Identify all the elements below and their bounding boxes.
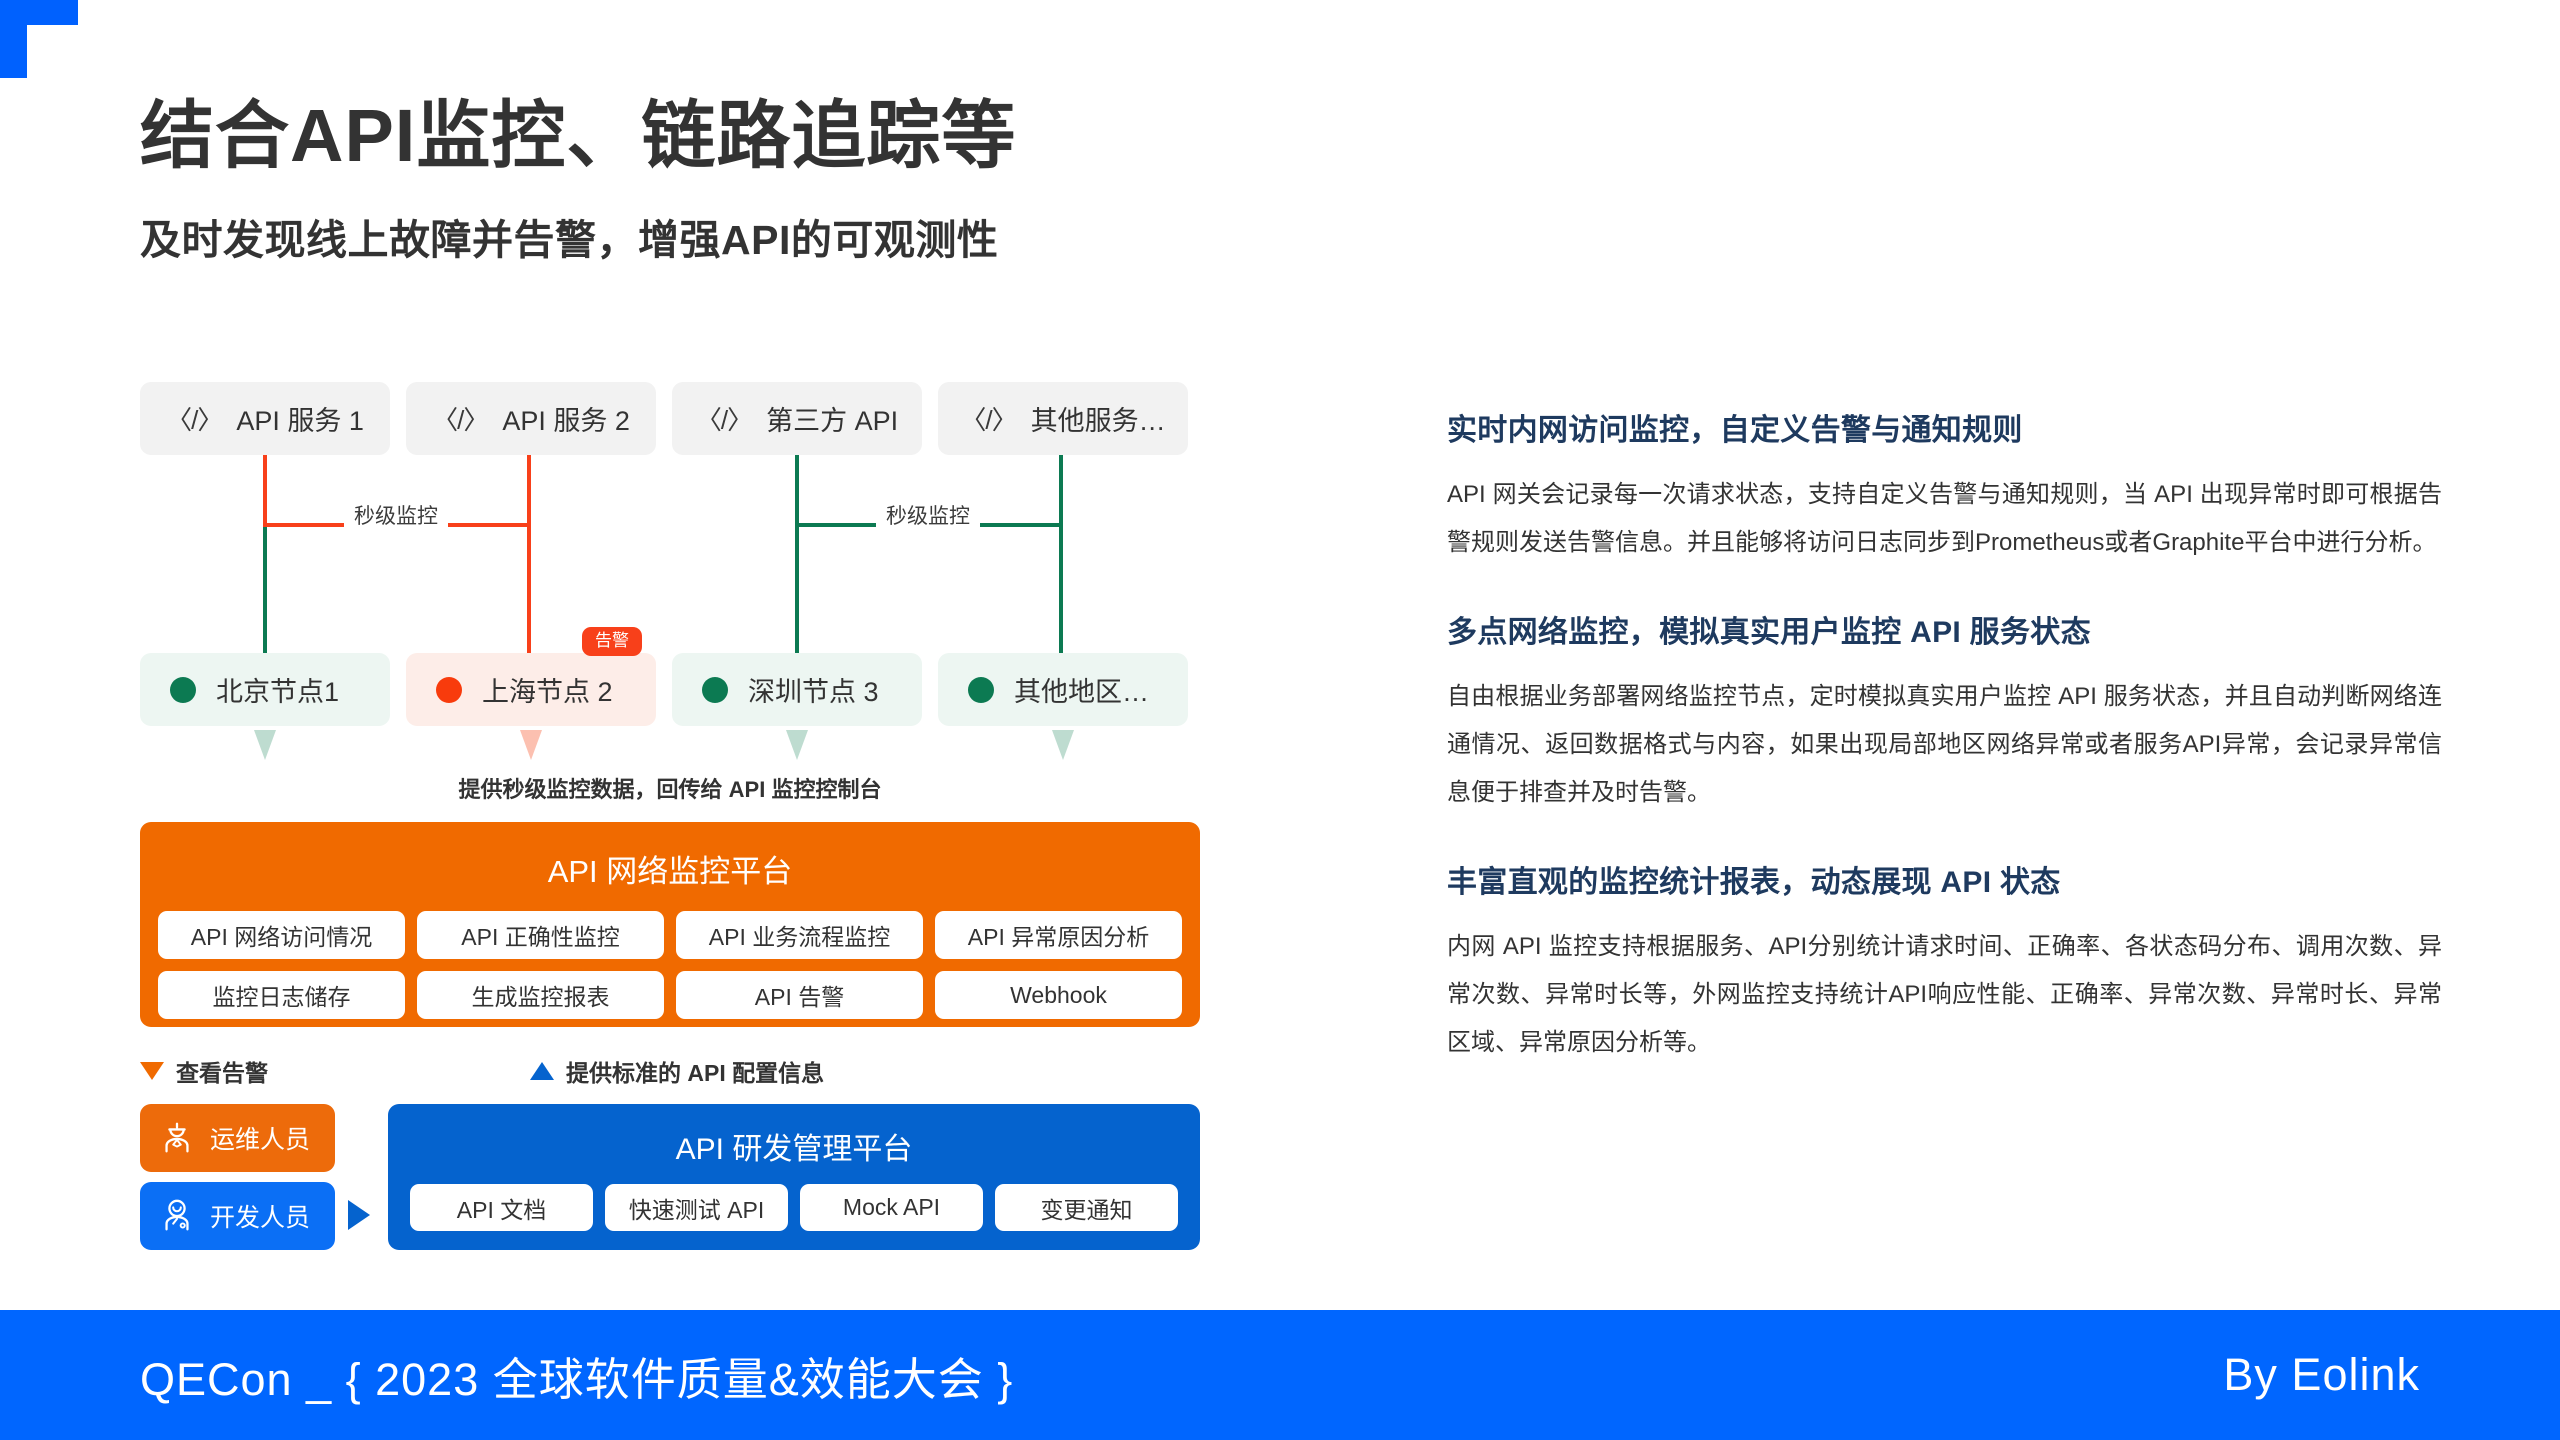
corner-bracket-mark bbox=[0, 0, 78, 78]
status-dot-icon bbox=[702, 677, 728, 703]
connector-line-green-right bbox=[1059, 455, 1063, 653]
dev-platform-chip-row: API 文档 快速测试 API Mock API 变更通知 bbox=[410, 1184, 1178, 1231]
monitor-platform-title: API 网络监控平台 bbox=[158, 846, 1182, 891]
connector-label-right: 秒级监控 bbox=[876, 500, 980, 530]
title-block: 结合API监控、链路追踪等 及时发现线上故障并告警，增强API的可观测性 bbox=[140, 95, 1340, 266]
monitor-chip[interactable]: 监控日志储存 bbox=[158, 971, 405, 1019]
page-title: 结合API监控、链路追踪等 bbox=[140, 95, 1340, 178]
service-box-4[interactable]: 〈/〉 其他服务… bbox=[938, 382, 1188, 455]
monitor-chip[interactable]: API 异常原因分析 bbox=[935, 911, 1182, 959]
connector-label-left: 秒级监控 bbox=[344, 500, 448, 530]
corner-bracket-vertical-arm bbox=[0, 0, 27, 78]
api-network-monitor-platform: API 网络监控平台 API 网络访问情况 API 正确性监控 API 业务流程… bbox=[140, 822, 1200, 1027]
flow-arrow-down-icon bbox=[1052, 730, 1074, 760]
service-box-1[interactable]: 〈/〉 API 服务 1 bbox=[140, 382, 390, 455]
flow-arrow-right-icon bbox=[348, 1200, 370, 1230]
service-box-2[interactable]: 〈/〉 API 服务 2 bbox=[406, 382, 656, 455]
section-heading: 丰富直观的监控统计报表，动态展现 API 状态 bbox=[1447, 857, 2442, 901]
monitor-platform-row-1: API 网络访问情况 API 正确性监控 API 业务流程监控 API 异常原因… bbox=[158, 911, 1182, 959]
node-box-shanghai[interactable]: 上海节点 2 告警 bbox=[406, 653, 656, 726]
legend-view-alerts: 查看告警 bbox=[140, 1054, 268, 1088]
monitor-chip[interactable]: API 业务流程监控 bbox=[676, 911, 923, 959]
dev-chip[interactable]: 变更通知 bbox=[995, 1184, 1178, 1231]
role-card-dev[interactable]: 开发人员 bbox=[140, 1182, 335, 1250]
connector-line-green-left-bottom bbox=[263, 525, 267, 653]
node-label: 深圳节点 3 bbox=[748, 670, 879, 709]
node-label: 上海节点 2 bbox=[482, 670, 613, 709]
section-heading: 实时内网访问监控，自定义告警与通知规则 bbox=[1447, 405, 2442, 449]
service-row: 〈/〉 API 服务 1 〈/〉 API 服务 2 〈/〉 第三方 API 〈/… bbox=[140, 382, 1200, 455]
code-brackets-icon: 〈/〉 bbox=[696, 400, 752, 437]
content-section-1: 实时内网访问监控，自定义告警与通知规则 API 网关会记录每一次请求状态，支持自… bbox=[1447, 405, 2442, 567]
flow-arrow-down-icon bbox=[520, 730, 542, 760]
content-section-2: 多点网络监控，模拟真实用户监控 API 服务状态 自由根据业务部署网络监控节点，… bbox=[1447, 607, 2442, 817]
flow-arrow-down-icon bbox=[786, 730, 808, 760]
dev-chip[interactable]: API 文档 bbox=[410, 1184, 593, 1231]
roles-and-dev-platform: 运维人员 开发人员 API 研发管理平台 API 文档 快速测试 API Moc… bbox=[140, 1104, 1200, 1254]
feedback-note: 提供秒级监控数据，回传给 API 监控控制台 bbox=[140, 772, 1200, 804]
legend-label: 提供标准的 API 配置信息 bbox=[566, 1054, 824, 1088]
legend-label: 查看告警 bbox=[176, 1054, 268, 1088]
section-body: 自由根据业务部署网络监控节点，定时模拟真实用户监控 API 服务状态，并且自动判… bbox=[1447, 673, 2442, 817]
role-card-ops[interactable]: 运维人员 bbox=[140, 1104, 335, 1172]
dev-chip[interactable]: Mock API bbox=[800, 1184, 983, 1231]
section-heading: 多点网络监控，模拟真实用户监控 API 服务状态 bbox=[1447, 607, 2442, 651]
connector-line-red-left-top bbox=[263, 455, 267, 525]
section-body: 内网 API 监控支持根据服务、API分别统计请求时间、正确率、各状态码分布、调… bbox=[1447, 923, 2442, 1067]
flow-arrow-down-icon bbox=[254, 730, 276, 760]
page-subtitle: 及时发现线上故障并告警，增强API的可观测性 bbox=[140, 206, 1340, 266]
monitor-chip[interactable]: Webhook bbox=[935, 971, 1182, 1019]
monitor-chip[interactable]: API 正确性监控 bbox=[417, 911, 664, 959]
legend-provide-config: 提供标准的 API 配置信息 bbox=[530, 1054, 824, 1088]
dev-platform-title: API 研发管理平台 bbox=[410, 1124, 1178, 1168]
content-column: 实时内网访问监控，自定义告警与通知规则 API 网关会记录每一次请求状态，支持自… bbox=[1447, 405, 2442, 1067]
triangle-down-icon bbox=[140, 1062, 164, 1080]
alert-badge: 告警 bbox=[582, 627, 642, 656]
node-label: 其他地区… bbox=[1014, 670, 1149, 709]
node-label: 北京节点1 bbox=[216, 670, 339, 709]
node-box-beijing[interactable]: 北京节点1 bbox=[140, 653, 390, 726]
code-brackets-icon: 〈/〉 bbox=[960, 400, 1016, 437]
monitor-chip[interactable]: API 网络访问情况 bbox=[158, 911, 405, 959]
code-brackets-icon: 〈/〉 bbox=[166, 400, 222, 437]
monitor-chip[interactable]: API 告警 bbox=[676, 971, 923, 1019]
status-dot-icon bbox=[968, 677, 994, 703]
status-dot-icon bbox=[436, 677, 462, 703]
monitor-platform-row-2: 监控日志储存 生成监控报表 API 告警 Webhook bbox=[158, 971, 1182, 1019]
node-box-other[interactable]: 其他地区… bbox=[938, 653, 1188, 726]
role-label: 开发人员 bbox=[210, 1198, 310, 1234]
service-box-label: API 服务 2 bbox=[502, 399, 630, 438]
dev-chip[interactable]: 快速测试 API bbox=[605, 1184, 788, 1231]
role-label: 运维人员 bbox=[210, 1120, 310, 1156]
status-dot-icon bbox=[170, 677, 196, 703]
connector-line-green-left bbox=[795, 455, 799, 653]
content-section-3: 丰富直观的监控统计报表，动态展现 API 状态 内网 API 监控支持根据服务、… bbox=[1447, 857, 2442, 1067]
node-box-shenzhen[interactable]: 深圳节点 3 bbox=[672, 653, 922, 726]
code-brackets-icon: 〈/〉 bbox=[432, 400, 488, 437]
monitor-chip[interactable]: 生成监控报表 bbox=[417, 971, 664, 1019]
connector-layer: 秒级监控 秒级监控 bbox=[140, 455, 1200, 653]
api-dev-management-platform: API 研发管理平台 API 文档 快速测试 API Mock API 变更通知 bbox=[388, 1104, 1200, 1250]
footer-event-name: QECon _ { 2023 全球软件质量&效能大会 } bbox=[140, 1343, 1013, 1408]
dev-person-icon bbox=[158, 1197, 196, 1235]
service-box-3[interactable]: 〈/〉 第三方 API bbox=[672, 382, 922, 455]
triangle-up-icon bbox=[530, 1062, 554, 1080]
service-box-label: API 服务 1 bbox=[236, 399, 364, 438]
node-row: 北京节点1 上海节点 2 告警 深圳节点 3 其他地区… bbox=[140, 653, 1200, 726]
service-box-label: 第三方 API bbox=[766, 399, 898, 438]
ops-person-icon bbox=[158, 1119, 196, 1157]
footer-bar: QECon _ { 2023 全球软件质量&效能大会 } By Eolink bbox=[0, 1310, 2560, 1440]
section-body: API 网关会记录每一次请求状态，支持自定义告警与通知规则，当 API 出现异常… bbox=[1447, 471, 2442, 567]
footer-attribution: By Eolink bbox=[2223, 1349, 2420, 1401]
architecture-diagram: 〈/〉 API 服务 1 〈/〉 API 服务 2 〈/〉 第三方 API 〈/… bbox=[140, 382, 1200, 1252]
legend-row: 查看告警 提供标准的 API 配置信息 bbox=[140, 1054, 1200, 1090]
connector-line-red-right bbox=[527, 455, 531, 653]
service-box-label: 其他服务… bbox=[1031, 399, 1166, 438]
